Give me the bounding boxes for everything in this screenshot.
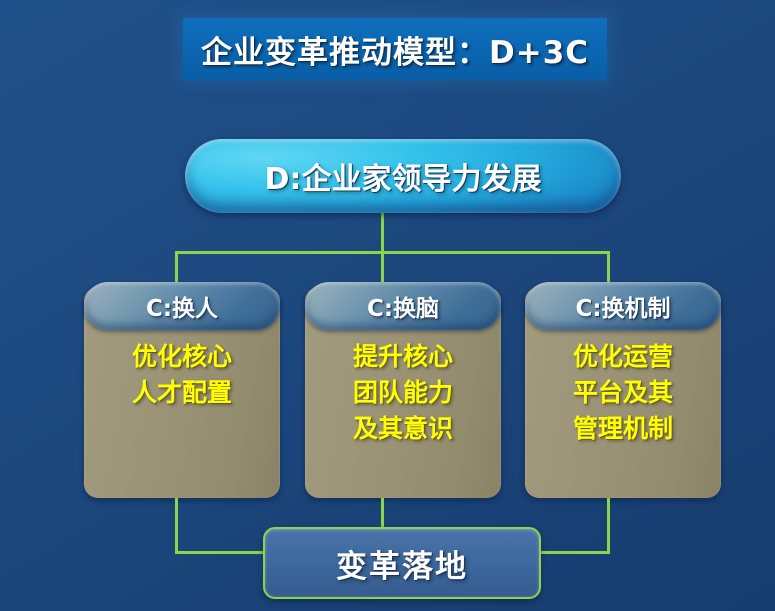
connector-up-center: [381, 498, 384, 530]
pillar-1-header: C:换人: [84, 282, 280, 330]
driver-pill[interactable]: D:企业家领导力发展: [185, 139, 621, 213]
slide-title-text: 企业变革推动模型：D+3C: [201, 27, 589, 72]
pillar-3-line-1: 优化运营: [573, 339, 673, 375]
pillar-1-line-2: 人才配置: [132, 375, 232, 411]
outcome-box[interactable]: 变革落地: [263, 527, 541, 599]
pillar-3-header-label: C:换机制: [575, 289, 670, 323]
pillar-1-line-1: 优化核心: [132, 339, 232, 375]
driver-label: D:企业家领导力发展: [265, 154, 542, 198]
connector-left-into-outcome: [175, 551, 271, 554]
pillar-1-body: 优化核心 人才配置: [84, 339, 280, 411]
pillar-3-body: 优化运营 平台及其 管理机制: [525, 339, 721, 447]
connector-up-left: [175, 498, 178, 554]
pillar-2-header: C:换脑: [305, 282, 501, 330]
pillar-2-line-3: 及其意识: [353, 411, 453, 447]
pillar-card-2[interactable]: C:换脑 提升核心 团队能力 及其意识: [305, 287, 501, 498]
connector-top-bus: [175, 251, 610, 254]
outcome-label: 变革落地: [336, 541, 468, 586]
pillar-2-header-label: C:换脑: [367, 289, 439, 323]
pillar-card-3[interactable]: C:换机制 优化运营 平台及其 管理机制: [525, 287, 721, 498]
pillar-2-line-1: 提升核心: [353, 339, 453, 375]
pillar-card-1[interactable]: C:换人 优化核心 人才配置: [84, 287, 280, 498]
pillar-2-line-2: 团队能力: [353, 375, 453, 411]
pillar-1-header-label: C:换人: [146, 289, 218, 323]
pillar-2-body: 提升核心 团队能力 及其意识: [305, 339, 501, 447]
connector-up-right: [607, 498, 610, 554]
pillar-3-line-3: 管理机制: [573, 411, 673, 447]
pillar-3-line-2: 平台及其: [573, 375, 673, 411]
slide-title-banner: 企业变革推动模型：D+3C: [183, 18, 607, 80]
pillar-3-header: C:换机制: [525, 282, 721, 330]
connector-driver-stem: [381, 213, 384, 253]
connector-right-into-outcome: [533, 551, 610, 554]
diagram-slide: 企业变革推动模型：D+3C D:企业家领导力发展 C:换人 优化核心 人才配置 …: [0, 0, 775, 611]
